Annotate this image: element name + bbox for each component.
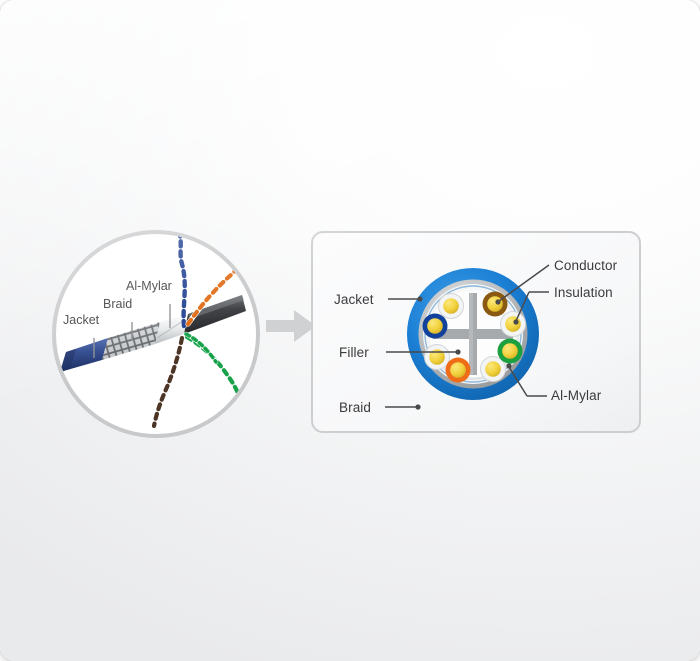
- label-jacket: Jacket: [334, 293, 374, 307]
- photo-jacket: [60, 338, 108, 372]
- conductor-1: [439, 294, 464, 319]
- label-braid: Braid: [339, 401, 371, 415]
- photo-label-braid: Braid: [103, 298, 132, 311]
- conductor-2: [483, 292, 508, 317]
- label-al-mylar: Al-Mylar: [551, 389, 601, 403]
- conductor-8: [498, 339, 523, 364]
- cross-section-panel: Jacket Filler Braid Conductor Insulation…: [311, 231, 641, 433]
- label-insulation: Insulation: [554, 286, 613, 300]
- cable-photo-illustration: [56, 234, 256, 434]
- photo-label-al-mylar: Al-Mylar: [126, 280, 172, 293]
- photo-braid: [102, 322, 160, 360]
- conductor-4: [423, 314, 448, 339]
- conductor-5: [425, 345, 450, 370]
- conductor-6: [446, 358, 471, 383]
- photo-label-jacket: Jacket: [63, 314, 99, 327]
- label-conductor: Conductor: [554, 259, 617, 273]
- label-filler: Filler: [339, 346, 369, 360]
- conductor-3: [501, 312, 526, 337]
- diagram-page: Jacket Braid Al-Mylar: [0, 0, 700, 661]
- cable-photo-circle: [52, 230, 260, 438]
